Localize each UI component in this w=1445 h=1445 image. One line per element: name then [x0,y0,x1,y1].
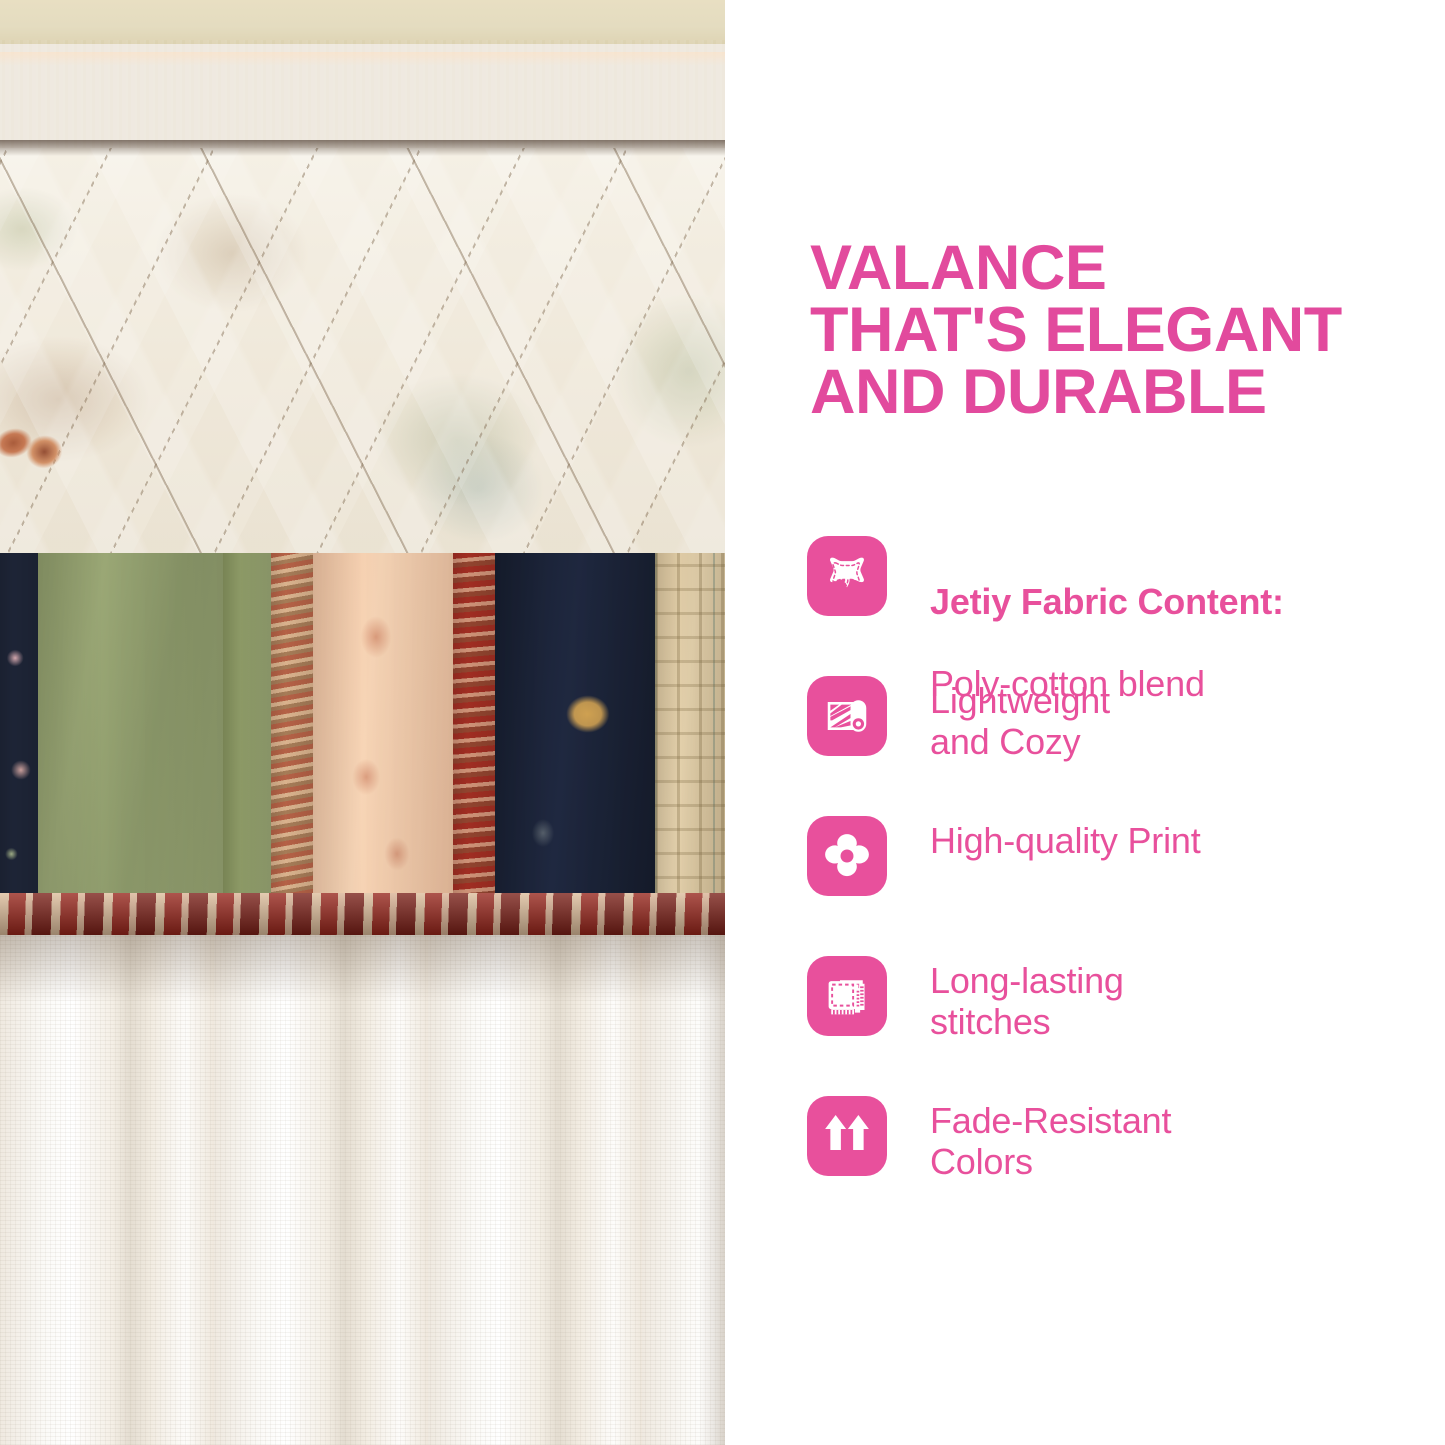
list-item: Long-lasting stitches [807,956,1407,1096]
cream-quilted-panel [0,148,725,553]
patch-navy-floral [0,553,38,903]
flower-icon [807,816,887,896]
patch-tan-plaid [655,553,725,903]
patchwork-strip-band [0,553,725,903]
wall-background [0,0,725,44]
info-panel: Valance That's Elegant and Durable Jetiy… [725,0,1445,1445]
list-item-text: High-quality Print [930,816,1201,861]
patch-sage-green-narrow [223,553,271,903]
product-feature-card: Valance That's Elegant and Durable Jetiy… [0,0,1445,1445]
list-item: Jetiy Fabric Content: Poly-cotton blend [807,536,1407,676]
patch-navy-gold-leaf [495,553,655,903]
list-item-text: Long-lasting stitches [930,956,1124,1042]
list-item: Lightweight and Cozy [807,676,1407,816]
bottom-red-floral-binding [0,893,725,935]
product-photo [0,0,725,1445]
curtain-top-shadow [0,932,725,1002]
patch-floral-binding [271,553,313,903]
feature-list: Jetiy Fabric Content: Poly-cotton blend … [807,536,1407,1236]
page-title: Valance That's Elegant and Durable [810,237,1390,423]
cornice-shadow [0,140,725,156]
sheer-curtain [0,932,725,1445]
leather-hide-icon [807,536,887,616]
patch-sage-green [38,553,223,903]
list-item-text: Fade-Resistant Colors [930,1096,1171,1182]
cornice-highlight [0,52,725,66]
patch-red-floral-binding [453,553,495,903]
double-up-arrow-icon [807,1096,887,1176]
patch-peach-floral [313,553,453,903]
fabric-roll-icon [807,676,887,756]
list-item: High-quality Print [807,816,1407,956]
list-item-title: Jetiy Fabric Content: [930,581,1284,622]
curtain-right-edge [699,932,725,1445]
curtain-weave-texture [0,932,725,1445]
list-item-text: Lightweight and Cozy [930,676,1110,762]
stitched-layers-icon [807,956,887,1036]
diamond-stitch-pattern [0,148,725,553]
list-item: Fade-Resistant Colors [807,1096,1407,1236]
